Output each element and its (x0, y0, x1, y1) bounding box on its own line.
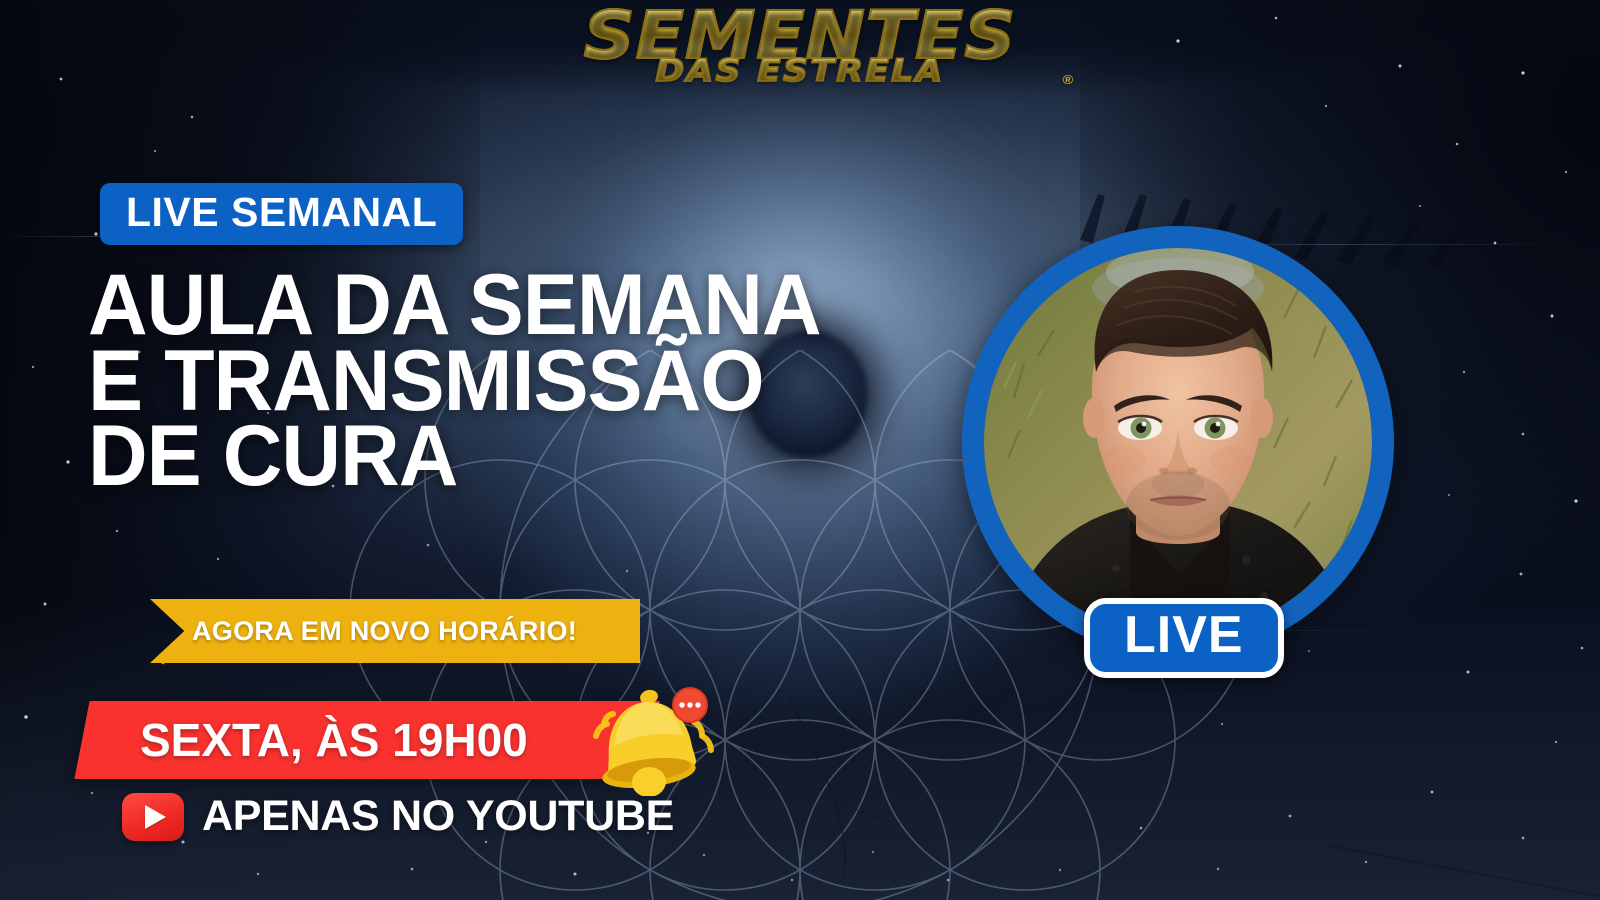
bell-icon (586, 678, 716, 796)
brand-logo-sub-text: DAS ESTRELA (655, 53, 944, 89)
live-semanal-badge: LIVE SEMANAL (100, 183, 463, 245)
avatar-ring (962, 226, 1394, 658)
play-triangle-icon (145, 805, 166, 829)
brand-logo: SEMENTES DAS ESTRELA ® (540, 4, 1060, 108)
status-badge: LIVE (1084, 598, 1284, 678)
brand-logo-sub: DAS ESTRELA ® (509, 53, 1091, 89)
promo-banner: SEMENTES DAS ESTRELA ® LIVE SEMANAL AULA… (0, 0, 1600, 900)
crack-line (780, 690, 980, 880)
platform-row[interactable]: APENAS NO YOUTUBE (122, 792, 674, 841)
platform-label: APENAS NO YOUTUBE (202, 792, 674, 841)
avatar (962, 226, 1394, 658)
page-title: AULA DA SEMANA E TRANSMISSÃO DE CURA (88, 268, 821, 495)
schedule-label: SEXTA, ÀS 19H00 (140, 706, 528, 774)
youtube-play-icon[interactable] (122, 793, 184, 841)
crack-line (1330, 836, 1600, 900)
new-time-label: AGORA EM NOVO HORÁRIO! (192, 616, 577, 647)
trademark-symbol: ® (1063, 72, 1076, 87)
new-time-ribbon: AGORA EM NOVO HORÁRIO! (150, 599, 640, 663)
